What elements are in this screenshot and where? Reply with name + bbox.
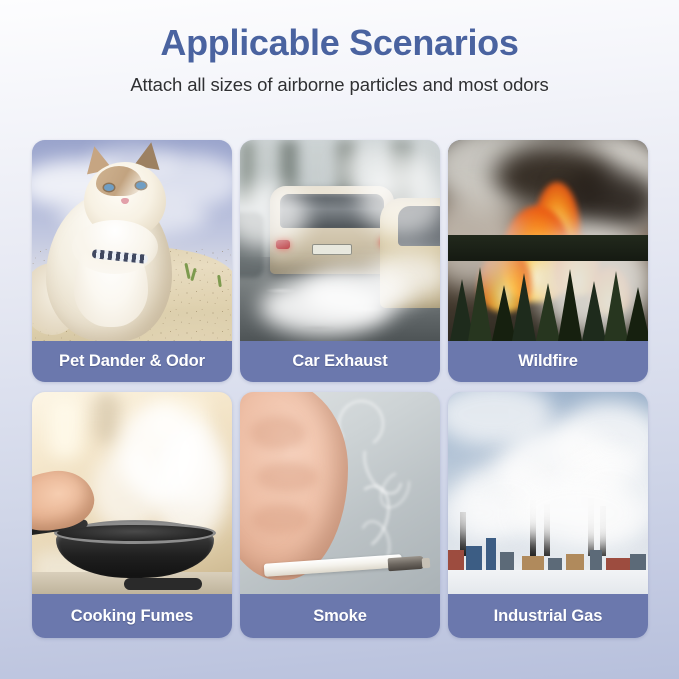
- scenario-label: Car Exhaust: [240, 341, 440, 382]
- scenario-card-pet-dander[interactable]: Pet Dander & Odor: [32, 140, 232, 382]
- page-subtitle: Attach all sizes of airborne particles a…: [0, 74, 679, 96]
- car-exhaust-photo: [240, 140, 440, 341]
- page-header: Applicable Scenarios Attach all sizes of…: [0, 0, 679, 96]
- scenario-label: Smoke: [240, 594, 440, 638]
- scenario-card-wildfire[interactable]: Wildfire: [448, 140, 648, 382]
- cat-on-litter-photo: [32, 140, 232, 341]
- scenario-label: Pet Dander & Odor: [32, 341, 232, 382]
- scenario-label: Industrial Gas: [448, 594, 648, 638]
- scenario-card-car-exhaust[interactable]: Car Exhaust: [240, 140, 440, 382]
- scenario-grid: Pet Dander & Odor Car Exhaust: [32, 140, 648, 638]
- page-title: Applicable Scenarios: [0, 22, 679, 64]
- scenario-label: Cooking Fumes: [32, 594, 232, 638]
- factory-smokestacks-photo: [448, 392, 648, 594]
- cigarette-smoke-photo: [240, 392, 440, 594]
- scenario-card-industrial-gas[interactable]: Industrial Gas: [448, 392, 648, 638]
- frying-pan-steam-photo: [32, 392, 232, 594]
- scenario-label: Wildfire: [448, 341, 648, 382]
- scenario-card-cooking-fumes[interactable]: Cooking Fumes: [32, 392, 232, 638]
- forest-wildfire-photo: [448, 140, 648, 341]
- scenario-card-smoke[interactable]: Smoke: [240, 392, 440, 638]
